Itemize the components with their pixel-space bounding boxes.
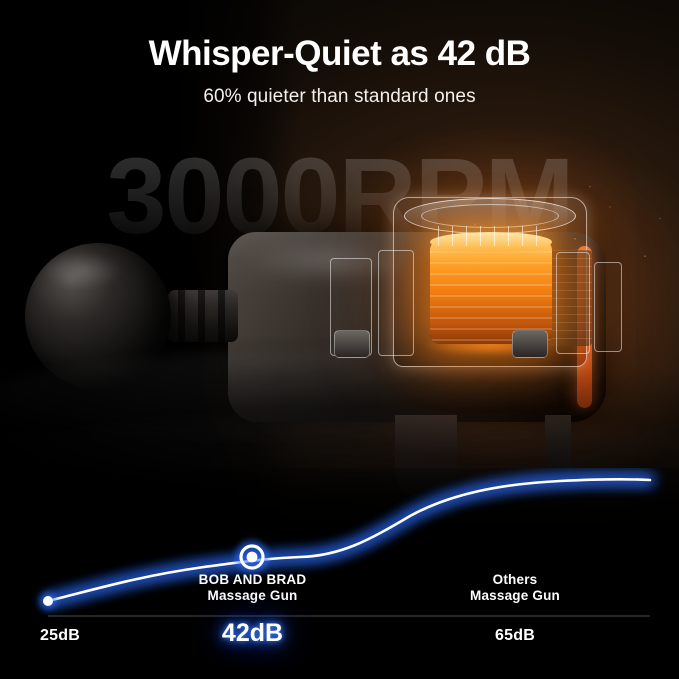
motor-pin-4 (480, 226, 481, 246)
series-label-others: Others Massage Gun (420, 572, 610, 605)
noise-comparison-chart: BOB AND BRAD Massage Gun Others Massage … (0, 468, 679, 679)
highlight-marker-dot (247, 552, 258, 563)
motor-pin-7 (522, 226, 523, 246)
motor-pin-1 (438, 226, 439, 246)
series-label-others-line1: Others (420, 572, 610, 588)
series-label-bob-and-brad-line1: BOB AND BRAD (150, 572, 355, 588)
motor-pin-6 (508, 226, 509, 246)
axis-label-42db-highlight: 42dB (150, 618, 355, 649)
motor-pin-8 (536, 226, 537, 246)
shaft-ring-3 (218, 290, 225, 342)
headline-block: Whisper-Quiet as 42 dB 60% quieter than … (0, 34, 679, 108)
promo-banner: 3000RPM Whisper-Quiet as 42 dB 60% quiet… (0, 0, 679, 679)
massage-gun-shaft (168, 290, 238, 342)
brace-right-outer (594, 262, 622, 352)
axis-label-25db: 25dB (0, 626, 120, 646)
motor-copper-coil (430, 240, 552, 344)
page-subtitle: 60% quieter than standard ones (0, 86, 679, 108)
motor-pin-2 (452, 226, 453, 246)
brace-left-inner (378, 250, 414, 356)
axis-label-65db: 65dB (420, 626, 610, 646)
start-point-marker (43, 596, 53, 606)
shaft-ring-1 (178, 290, 185, 342)
motor-pin-3 (466, 226, 467, 246)
series-label-bob-and-brad: BOB AND BRAD Massage Gun (150, 572, 355, 605)
motor-foot-left (334, 330, 370, 358)
motor-foot-right (512, 330, 548, 358)
page-title: Whisper-Quiet as 42 dB (0, 34, 679, 74)
motor-pin-5 (494, 226, 495, 246)
brace-right-inner (556, 252, 590, 354)
shaft-ring-2 (198, 290, 205, 342)
coil-top-ring (430, 232, 552, 252)
series-label-bob-and-brad-line2: Massage Gun (150, 588, 355, 604)
motor-cap-inner (421, 204, 559, 228)
series-label-others-line2: Massage Gun (420, 588, 610, 604)
